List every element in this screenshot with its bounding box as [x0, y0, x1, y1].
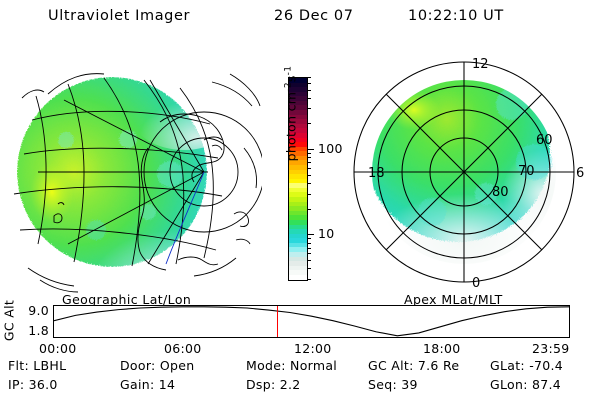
- status-field-label: GLon:: [490, 377, 532, 392]
- status-field-label: Flt:: [8, 358, 33, 373]
- status-field-label: GC Alt:: [368, 358, 418, 373]
- timeline-tick-label: 06:00: [164, 341, 202, 356]
- colorbar-minor-tick: [307, 194, 311, 195]
- colorbar-minor-tick: [307, 123, 311, 124]
- status-field-value: 36.0: [29, 377, 58, 392]
- altitude-axis-label: GC Alt: [0, 302, 18, 342]
- colorbar-minor-tick: [307, 243, 311, 244]
- colorbar-tick-label: 10: [318, 226, 335, 241]
- status-field: GLon: 87.4: [490, 377, 561, 392]
- altitude-curve-svg: [54, 306, 569, 337]
- status-field-value: 39: [401, 377, 418, 392]
- timeline-tick-label: 00:00: [39, 341, 77, 356]
- colorbar-minor-tick: [307, 108, 311, 109]
- colorbar-minor-tick: [307, 183, 311, 184]
- status-field: Flt: LBHL: [8, 358, 66, 373]
- status-field-value: LBHL: [33, 358, 66, 373]
- status-field-value: 14: [159, 377, 176, 392]
- status-field-value: Open: [160, 358, 195, 373]
- altitude-timeline-plot[interactable]: [53, 305, 570, 338]
- colorbar-axis-label: photon cm-2s-1: [283, 39, 298, 189]
- colorbar-minor-tick: [307, 260, 311, 261]
- altitude-curve: [54, 307, 569, 336]
- colorbar-minor-tick: [307, 98, 311, 99]
- altitude-ytick-high: 9.0: [17, 303, 49, 318]
- status-field-label: IP:: [8, 377, 29, 392]
- status-field: Dsp: 2.2: [246, 377, 301, 392]
- status-field-label: Mode:: [246, 358, 290, 373]
- status-field-value: 87.4: [532, 377, 561, 392]
- uvi-display-window: Ultraviolet Imager 26 Dec 07 10:22:10 UT: [0, 0, 600, 400]
- colorbar-minor-tick: [307, 157, 311, 158]
- colorbar-minor-tick: [307, 153, 311, 154]
- mlt-label-18: 18: [368, 166, 385, 181]
- status-field-value: -70.4: [529, 358, 563, 373]
- mlt-label-6: 6: [576, 166, 584, 181]
- colorbar-minor-tick: [307, 90, 311, 91]
- geographic-image-panel[interactable]: [8, 44, 262, 294]
- mlat-label-60: 60: [536, 133, 553, 148]
- colorbar-segment: [289, 275, 307, 280]
- colorbar-minor-tick: [307, 162, 311, 163]
- status-field-label: Seq:: [368, 377, 401, 392]
- status-field: Gain: 14: [120, 377, 175, 392]
- colorbar-minor-tick: [307, 268, 311, 269]
- observation-time: 10:22:10 UT: [408, 8, 504, 24]
- mlt-label-0: 0: [472, 276, 480, 291]
- mlat-label-80: 80: [492, 185, 509, 200]
- status-field-label: Dsp:: [246, 377, 280, 392]
- apex-polar-grid: [354, 62, 574, 282]
- status-field: GLat: -70.4: [490, 358, 563, 373]
- apex-polar-panel[interactable]: 12 18 6 0 60 70 80: [336, 44, 592, 294]
- observation-date: 26 Dec 07: [274, 8, 354, 24]
- page-title: Ultraviolet Imager: [48, 8, 190, 24]
- timeline-tick-label: 12:00: [294, 341, 332, 356]
- colorbar-major-tick: [307, 149, 314, 150]
- timeline-tick-label: 18:00: [423, 341, 461, 356]
- colorbar-minor-tick: [307, 83, 311, 84]
- colorbar-label-exp2: -1: [283, 66, 293, 76]
- status-field-label: Gain:: [120, 377, 159, 392]
- status-field-value: Normal: [290, 358, 337, 373]
- status-field-value: 7.6 Re: [418, 358, 459, 373]
- altitude-axis-label-text: GC Alt: [2, 300, 17, 342]
- colorbar-major-tick: [307, 234, 314, 235]
- status-field: Mode: Normal: [246, 358, 337, 373]
- status-block: Flt: LBHLDoor: OpenMode: NormalGC Alt: 7…: [0, 358, 600, 400]
- colorbar-minor-tick: [307, 175, 311, 176]
- colorbar-group: photon cm-2s-1 10010: [266, 44, 336, 294]
- colorbar-minor-tick: [307, 248, 311, 249]
- status-field-label: Door:: [120, 358, 160, 373]
- colorbar-minor-tick: [307, 238, 311, 239]
- header: Ultraviolet Imager 26 Dec 07 10:22:10 UT: [0, 6, 600, 30]
- colorbar-label-main: photon cm: [284, 92, 299, 162]
- colorbar-label-mid: s: [284, 75, 299, 82]
- mlt-label-12: 12: [472, 57, 489, 72]
- status-field: GC Alt: 7.6 Re: [368, 358, 459, 373]
- status-field: Seq: 39: [368, 377, 418, 392]
- colorbar-label-exp1: -2: [283, 82, 293, 92]
- colorbar-minor-tick: [307, 209, 311, 210]
- apex-plot-svg: 12 18 6 0 60 70 80: [336, 44, 592, 294]
- status-field: Door: Open: [120, 358, 194, 373]
- mlat-label-70: 70: [518, 164, 535, 179]
- status-field-value: 2.2: [280, 377, 301, 392]
- colorbar-minor-tick: [307, 253, 311, 254]
- geographic-plot-svg: [8, 44, 262, 294]
- colorbar-ticks: [307, 77, 315, 281]
- altitude-ytick-low: 1.8: [17, 323, 49, 338]
- colorbar-minor-tick: [307, 279, 311, 280]
- colorbar-minor-tick: [307, 168, 311, 169]
- status-field: IP: 36.0: [8, 377, 58, 392]
- colorbar-minor-tick: [307, 77, 311, 78]
- current-time-marker[interactable]: [277, 306, 279, 337]
- timeline-tick-label: 23:59: [532, 341, 570, 356]
- status-field-label: GLat:: [490, 358, 529, 373]
